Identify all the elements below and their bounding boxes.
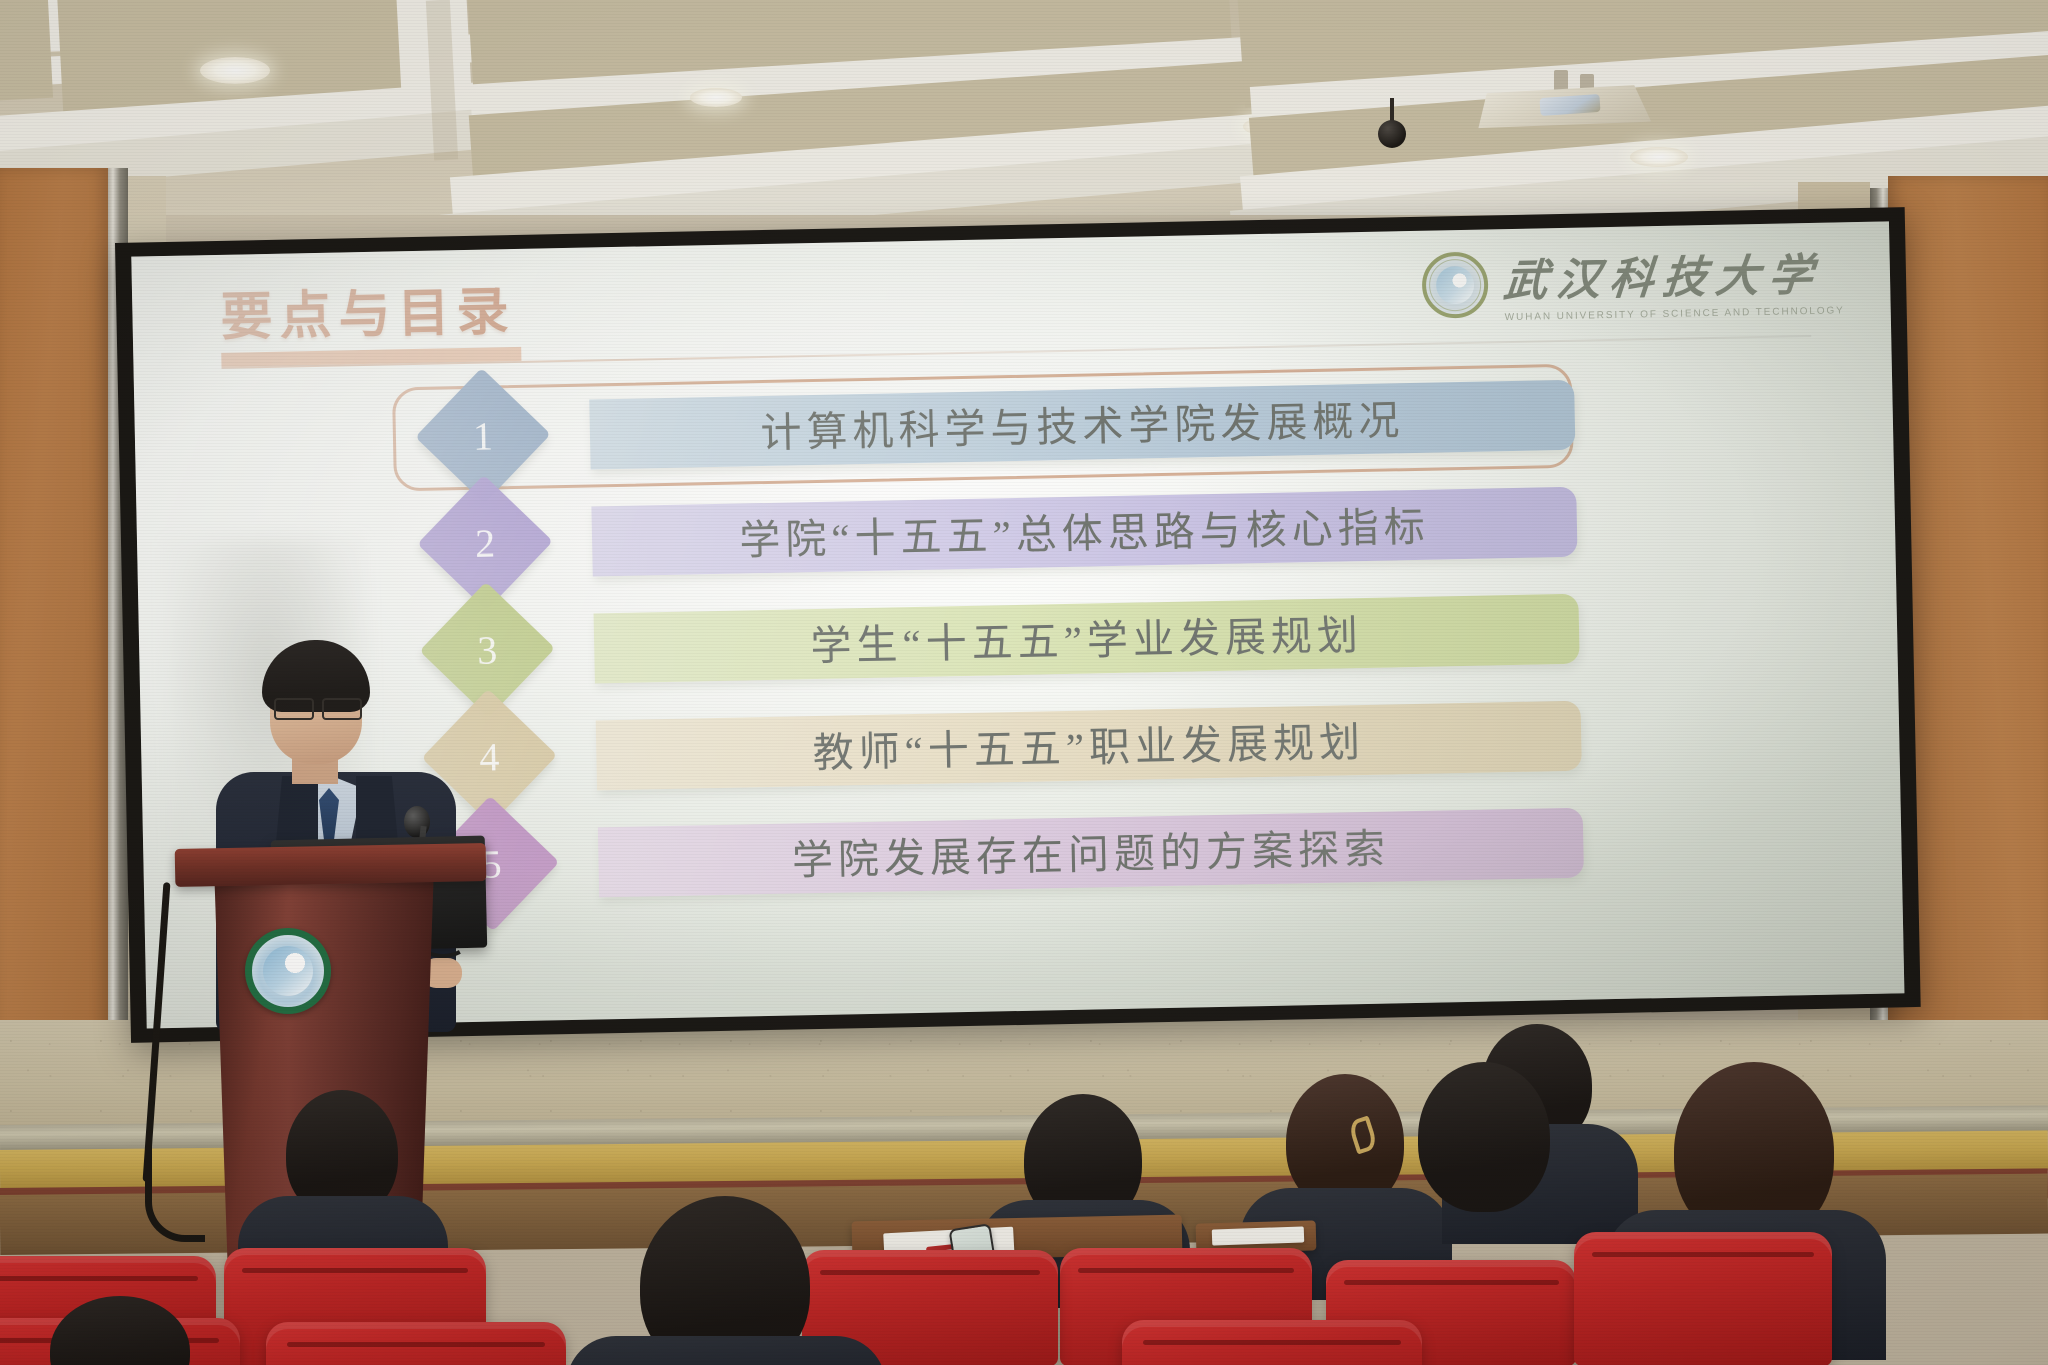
notebook-icon: [1212, 1226, 1305, 1245]
audience-shoulders: [566, 1336, 886, 1365]
slide-title: 要点与目录: [220, 269, 516, 350]
auditorium-seat-icon[interactable]: [266, 1322, 566, 1365]
university-seal-icon: [1421, 251, 1488, 318]
agenda-item-2-number: 2: [436, 494, 534, 592]
podium-cable-loop: [145, 1146, 205, 1242]
podium-top-surface: [175, 843, 487, 887]
recessed-downlight-icon: [1630, 147, 1688, 167]
recessed-downlight-icon: [690, 88, 742, 107]
eyeglasses-icon: [272, 698, 364, 718]
university-emblem-icon: [245, 928, 331, 1014]
auditorium-seat-icon[interactable]: [1574, 1232, 1832, 1365]
university-logo-text: 武汉科技大学 WUHAN UNIVERSITY OF SCIENCE AND T…: [1503, 238, 1845, 323]
recessed-downlight-icon: [200, 57, 270, 84]
university-name-cn: 武汉科技大学: [1501, 238, 1846, 309]
projector-mount: [1554, 70, 1568, 92]
ceiling: [0, 0, 2048, 215]
audience-head: [1418, 1062, 1550, 1212]
gooseneck-microphone-icon: [404, 806, 430, 838]
wall-panel-left: [0, 168, 108, 1048]
ceiling-dome-speaker-icon: [1378, 120, 1406, 148]
presentation-scene: 要点与目录 武汉科技大学 WUHAN UNIVERSITY OF SCIENCE…: [0, 0, 2048, 1365]
agenda-item-1-number: 1: [434, 387, 532, 485]
university-logo: 武汉科技大学 WUHAN UNIVERSITY OF SCIENCE AND T…: [1421, 238, 1845, 324]
auditorium-seat-icon[interactable]: [1122, 1320, 1422, 1365]
